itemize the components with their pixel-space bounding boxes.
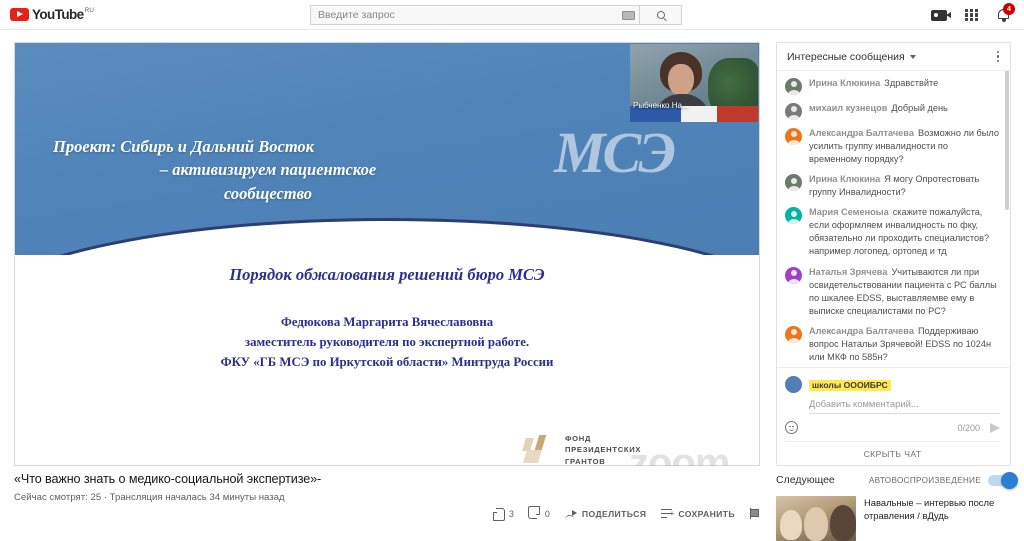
fund-logo-mark	[523, 435, 557, 465]
autoplay-label: АВТОВОСПРОИЗВЕДЕНИЕ	[869, 476, 981, 485]
compose-avatar	[785, 376, 802, 393]
chat-message-text: Здравствйте	[884, 78, 938, 88]
chat-message-body: михаил кузнецовДобрый день	[809, 102, 948, 115]
chat-message-body: Ирина КлюкинаЗдравствйте	[809, 77, 938, 90]
dislike-count: 0	[545, 509, 550, 519]
video-actions: 3 0 ПОДЕЛИТЬСЯ СОХРАНИТЬ	[493, 508, 760, 519]
notification-count-badge: 4	[1003, 3, 1015, 15]
chat-message[interactable]: Александра БалтачеваПоддерживаю вопрос Н…	[777, 321, 1010, 367]
mse-logo-mark: МСЭ	[554, 119, 673, 186]
chat-message-author[interactable]: Ирина Клюкина	[809, 78, 880, 88]
slide-project-line2: – активизируем пациентское	[53, 158, 483, 181]
avatar[interactable]	[785, 267, 802, 284]
up-next-video-item[interactable]: Навальные – интервью после отравления / …	[776, 496, 1016, 541]
masthead-actions: 4	[931, 0, 1012, 30]
avatar[interactable]	[785, 207, 802, 224]
youtube-logo[interactable]: YouTube RU	[10, 0, 94, 30]
save-label: СОХРАНИТЬ	[678, 509, 735, 519]
chat-message-author[interactable]: Александра Балтачева	[809, 128, 914, 138]
share-icon	[565, 509, 577, 519]
search-area: Введите запрос	[310, 5, 682, 25]
thumb-down-icon	[529, 508, 540, 519]
slide-author-name: Федюкова Маргарита Вячеславовна	[15, 313, 759, 333]
video-stats: Сейчас смотрят: 25 · Трансляция началась…	[14, 492, 760, 503]
up-next-section: Следующее АВТОВОСПРОИЗВЕДЕНИЕ Навальные …	[776, 474, 1016, 541]
report-button[interactable]	[750, 508, 760, 519]
flag-icon	[750, 508, 760, 519]
webcam-overlay[interactable]: Рыбченко На...	[630, 44, 758, 122]
chat-header: Интересные сообщения	[777, 43, 1010, 71]
youtube-play-icon	[10, 8, 29, 21]
up-next-header: Следующее АВТОВОСПРОИЗВЕДЕНИЕ	[776, 474, 1016, 486]
autoplay-control[interactable]: АВТОВОСПРОИЗВЕДЕНИЕ	[869, 475, 1016, 486]
chat-message[interactable]: Мария Семеноыаскажите пожалуйста, если о…	[777, 203, 1010, 262]
chat-menu-button[interactable]	[994, 47, 1002, 66]
keyboard-icon[interactable]	[622, 11, 635, 20]
send-arrow-icon[interactable]	[990, 423, 1000, 433]
create-video-button[interactable]	[931, 10, 947, 21]
presentation-slide: МСЭ Проект: Сибирь и Дальний Восток – ак…	[14, 42, 760, 466]
avatar[interactable]	[785, 128, 802, 145]
chat-message-body: Ирина КлюкинаЯ могу Опротестовать группу…	[809, 173, 1000, 199]
chat-message-body: Наталья ЗрячеваУчитываются ли при освиде…	[809, 266, 1000, 318]
chat-message-author[interactable]: Наталья Зрячева	[809, 267, 887, 277]
fund-line-1: ФОНД	[565, 433, 641, 444]
slide-author-block: Федюкова Маргарита Вячеславовна заместит…	[15, 313, 759, 372]
slide-heading: Порядок обжалования решений бюро МСЭ	[15, 265, 759, 285]
avatar[interactable]	[785, 326, 802, 343]
presidential-grants-fund-logo: ФОНД ПРЕЗИДЕНТСКИХ ГРАНТОВ	[523, 433, 641, 466]
chat-message-author[interactable]: Ирина Клюкина	[809, 174, 880, 184]
slide-project-line1: Проект: Сибирь и Дальний Восток	[53, 135, 483, 158]
share-button[interactable]: ПОДЕЛИТЬСЯ	[565, 509, 646, 519]
live-chat-panel: Интересные сообщения Марин Грачдобрый де…	[776, 42, 1011, 466]
chat-message[interactable]: Ирина КлюкинаЯ могу Опротестовать группу…	[777, 170, 1010, 203]
chat-header-title: Интересные сообщения	[787, 51, 905, 63]
fund-line-2: ПРЕЗИДЕНТСКИХ	[565, 444, 641, 455]
chat-message-body: Александра БалтачеваВозможно ли было уси…	[809, 127, 1000, 166]
search-placeholder: Введите запрос	[318, 9, 622, 21]
dislike-button[interactable]: 0	[529, 508, 550, 519]
chat-message-list[interactable]: Марин Грачдобрый день. все слышно и видн…	[777, 71, 1010, 367]
zoom-watermark: zoom	[629, 441, 729, 466]
fund-logo-text: ФОНД ПРЕЗИДЕНТСКИХ ГРАНТОВ	[565, 433, 641, 466]
save-button[interactable]: СОХРАНИТЬ	[661, 509, 735, 519]
hide-chat-button[interactable]: СКРЫТЬ ЧАТ	[785, 441, 1000, 465]
up-next-video-title: Навальные – интервью после отравления / …	[864, 496, 994, 541]
fund-line-3: ГРАНТОВ	[565, 456, 641, 466]
chat-filter-dropdown[interactable]: Интересные сообщения	[787, 51, 916, 63]
slide-project-line3: сообщество	[53, 182, 483, 205]
emoji-smiley-icon[interactable]	[785, 421, 798, 434]
char-counter: 0/200	[957, 423, 980, 433]
chat-message[interactable]: Ирина КлюкинаЗдравствйте	[777, 73, 1010, 98]
apps-button[interactable]	[965, 9, 978, 22]
like-count: 3	[509, 509, 514, 519]
autoplay-toggle[interactable]	[988, 475, 1016, 486]
slide-author-role: заместитель руководителя по экспертной р…	[15, 333, 759, 353]
search-icon	[657, 11, 665, 19]
chat-message-text: Добрый день	[891, 103, 947, 113]
up-next-title-line2: отравления / вДудь	[864, 509, 994, 522]
chat-message[interactable]: Александра БалтачеваВозможно ли было уси…	[777, 123, 1010, 169]
chevron-down-icon	[910, 55, 916, 59]
search-input[interactable]: Введите запрос	[310, 5, 640, 25]
chat-message-author[interactable]: михаил кузнецов	[809, 103, 887, 113]
thumb-up-icon	[493, 508, 504, 519]
share-label: ПОДЕЛИТЬСЯ	[582, 509, 646, 519]
masthead: YouTube RU Введите запрос 4	[0, 0, 1024, 30]
chat-scrollbar[interactable]	[1005, 71, 1009, 210]
slide-project-title: Проект: Сибирь и Дальний Восток – активи…	[53, 135, 483, 205]
webcam-participant-label: Рыбченко На...	[633, 101, 689, 110]
slide-author-org: ФКУ «ГБ МСЭ по Иркутской области» Минтру…	[15, 353, 759, 373]
apps-grid-icon	[965, 9, 978, 22]
search-button[interactable]	[640, 5, 682, 25]
save-playlist-icon	[661, 509, 673, 519]
up-next-title-line1: Навальные – интервью после	[864, 496, 994, 509]
page-body: МСЭ Проект: Сибирь и Дальний Восток – ак…	[0, 30, 1024, 512]
up-next-thumbnail	[776, 496, 856, 541]
chat-message[interactable]: Наталья ЗрячеваУчитываются ли при освиде…	[777, 262, 1010, 321]
like-button[interactable]: 3	[493, 508, 514, 519]
chat-message[interactable]: михаил кузнецовДобрый день	[777, 98, 1010, 123]
avatar[interactable]	[785, 174, 802, 191]
avatar[interactable]	[785, 103, 802, 120]
chat-compose-area: школы ОООИБРС Добавить комментарий... 0/…	[777, 367, 1010, 465]
chat-message-author[interactable]: Александра Балтачева	[809, 326, 914, 336]
notifications-button[interactable]: 4	[996, 7, 1012, 23]
chat-message-author[interactable]: Мария Семеноыа	[809, 207, 889, 217]
chat-message-body: Мария Семеноыаскажите пожалуйста, если о…	[809, 206, 1000, 258]
avatar[interactable]	[785, 78, 802, 95]
page-title: «Что важно знать о медико-социальной экс…	[14, 472, 760, 486]
up-next-title: Следующее	[776, 474, 835, 486]
chat-comment-input[interactable]: Добавить комментарий...	[809, 398, 1000, 414]
video-camera-icon	[931, 10, 947, 21]
youtube-logo-text: YouTube	[32, 8, 84, 21]
video-meta: «Что важно знать о медико-социальной экс…	[14, 472, 760, 503]
compose-username-badge: школы ОООИБРС	[809, 380, 891, 391]
youtube-logo-country-sup: RU	[85, 8, 94, 14]
chat-message-body: Александра БалтачеваПоддерживаю вопрос Н…	[809, 325, 1000, 364]
video-player[interactable]: МСЭ Проект: Сибирь и Дальний Восток – ак…	[14, 42, 760, 466]
